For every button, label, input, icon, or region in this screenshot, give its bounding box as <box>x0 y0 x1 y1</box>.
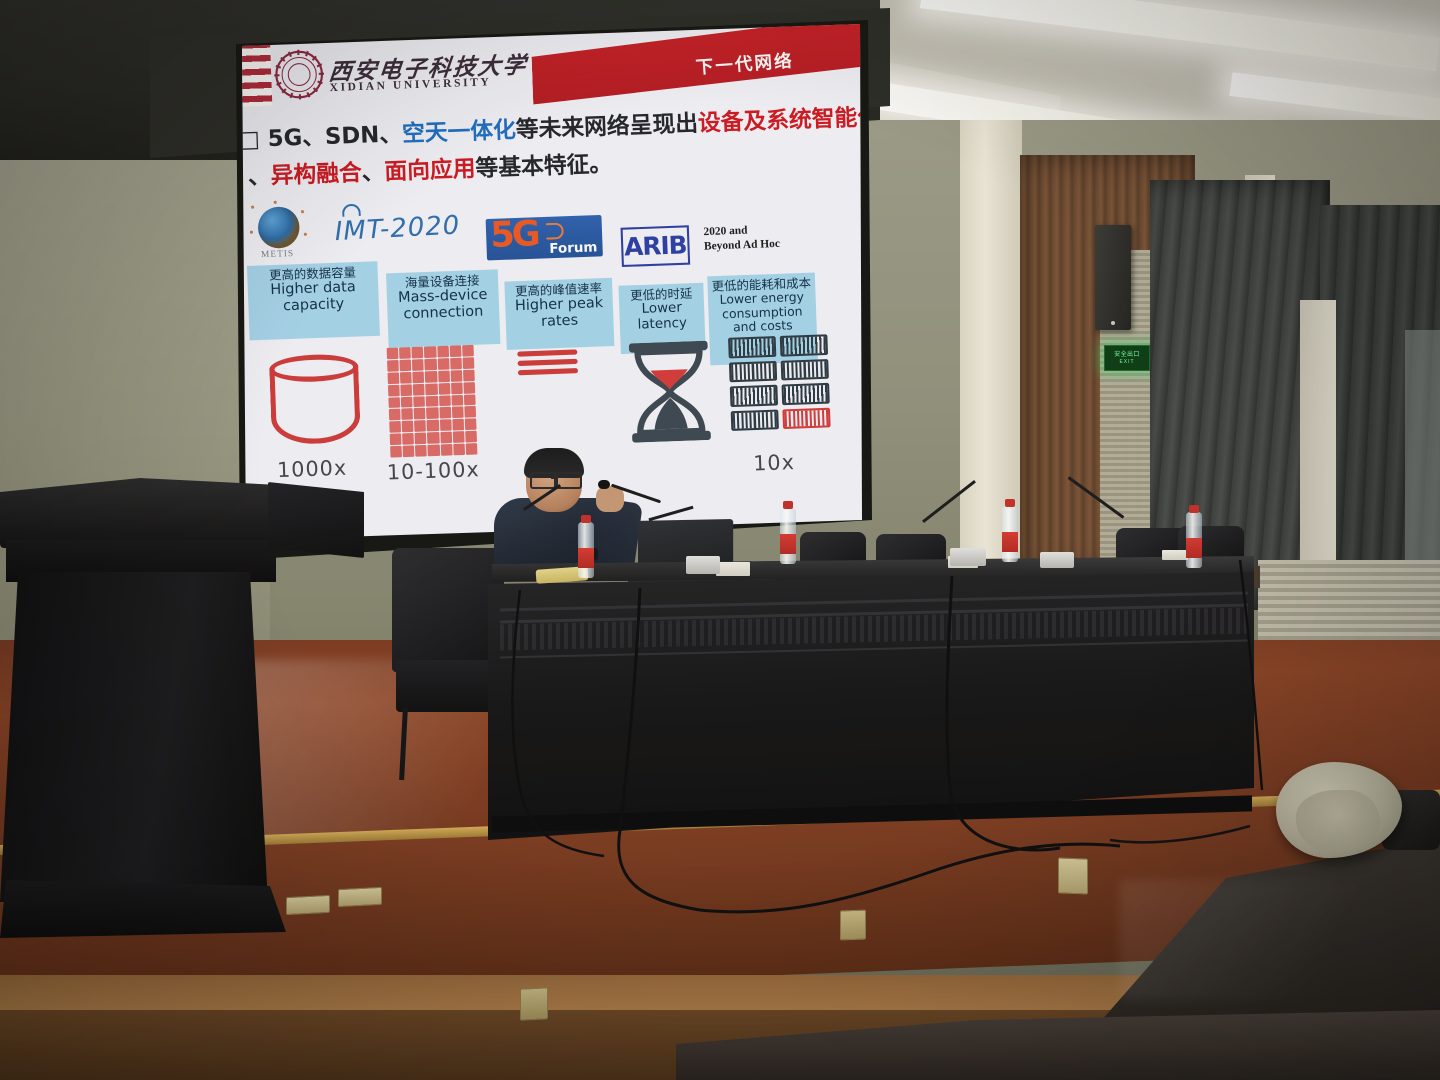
lecture-hall-photo: 安全出口 EXIT 西安电子科技大学 XIDIAN UNIVERSITY 下一代… <box>0 0 1440 1080</box>
vignette-overlay <box>0 0 1440 1080</box>
